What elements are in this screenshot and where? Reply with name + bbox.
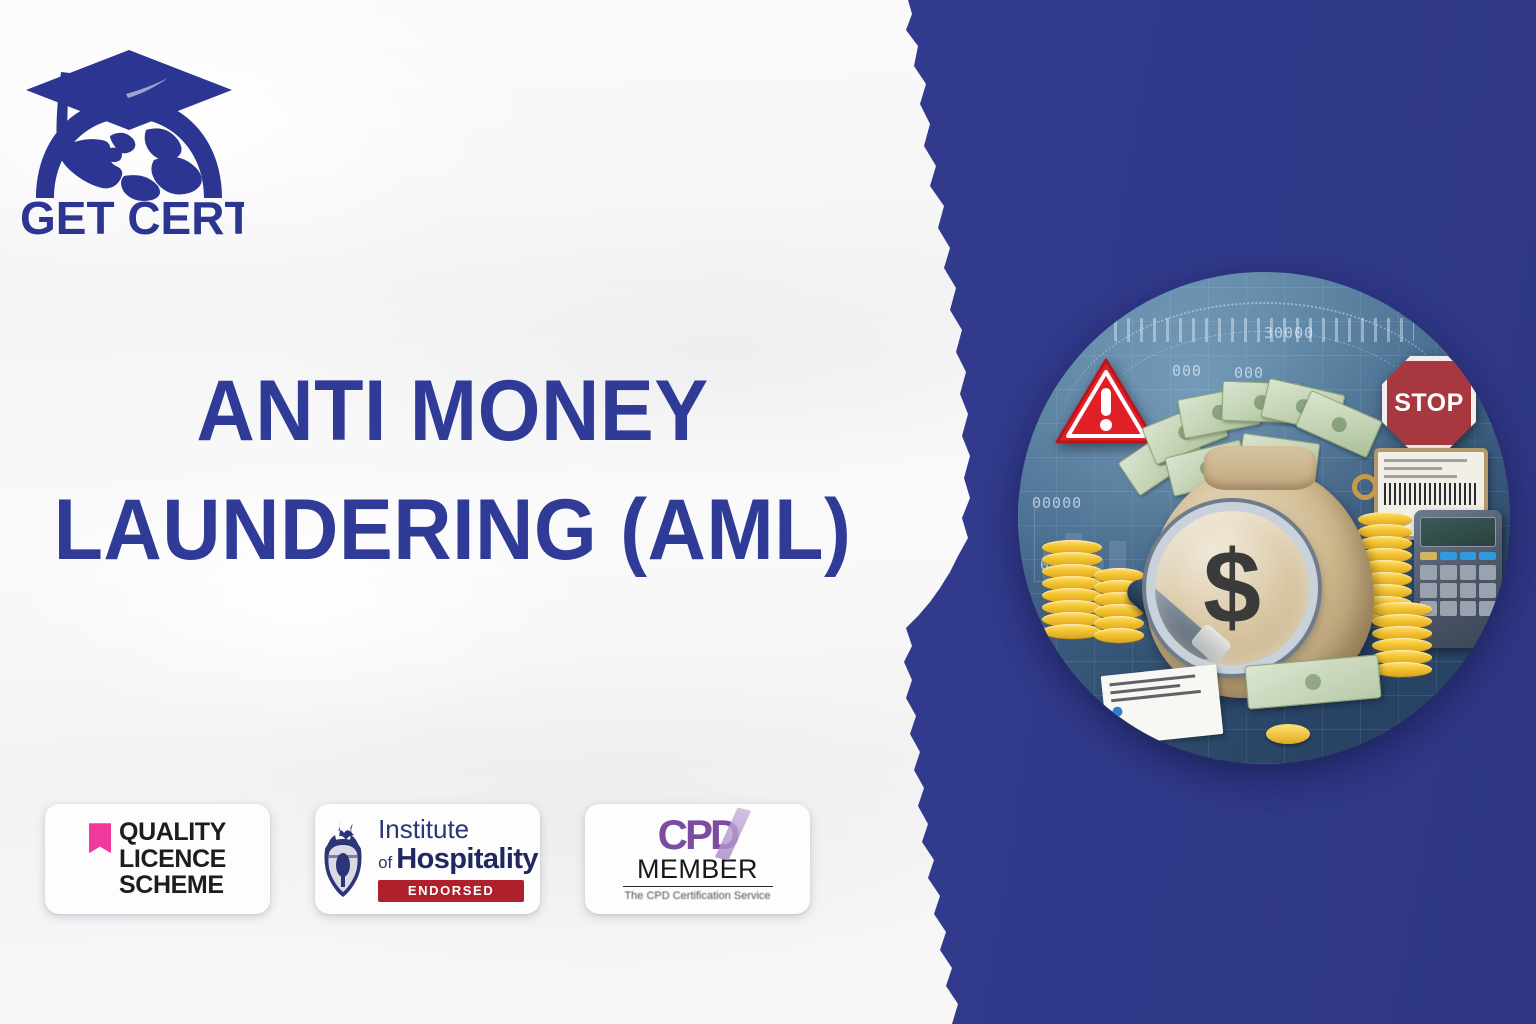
- calculator-screen: [1420, 517, 1496, 547]
- qls-line-1: QUALITY: [119, 819, 226, 846]
- endorsed-ribbon: ENDORSED: [378, 880, 524, 902]
- title-line-1: ANTI MONEY: [27, 352, 878, 471]
- badge-institute-of-hospitality[interactable]: Institute of Hospitality ENDORSED: [315, 804, 540, 914]
- loose-coin: [1266, 724, 1310, 744]
- stop-sign-label: STOP: [1394, 389, 1464, 418]
- cpd-divider: [623, 886, 773, 887]
- logo-wordmark: GET CERTIFY: [20, 192, 244, 241]
- financial-report-paper: [1101, 664, 1224, 746]
- magnifier-lens: $: [1146, 502, 1318, 674]
- dollar-symbol: $: [1203, 536, 1261, 640]
- disc-number-0: 30000: [1264, 324, 1314, 342]
- badge-quality-licence-scheme[interactable]: QUALITY LICENCE SCHEME: [45, 804, 270, 914]
- heraldic-crest-icon: [317, 819, 369, 899]
- qls-line-3: SCHEME: [119, 872, 226, 899]
- bookmark-icon: [89, 823, 111, 853]
- ioh-line-1: Institute: [378, 816, 538, 842]
- hero-illustration-disc: 30000 000 000 00000 000 STOP: [1018, 272, 1510, 764]
- report-stamp-dot: [1112, 706, 1123, 717]
- cpd-member-text: MEMBER: [637, 855, 758, 885]
- coin-stack-left-a: [1042, 540, 1102, 650]
- ioh-of: of: [378, 853, 392, 873]
- money-bag-tie: [1352, 474, 1378, 500]
- brand-logo[interactable]: GET CERTIFY: [14, 26, 244, 241]
- title-line-2: LAUNDERING (AML): [27, 471, 878, 590]
- coin-stack-right-c: [1372, 602, 1432, 686]
- stop-sign-icon: STOP: [1382, 356, 1476, 450]
- badge-cpd-member[interactable]: CPD MEMBER The CPD Certification Service: [585, 804, 810, 914]
- cpd-subtitle: The CPD Certification Service: [624, 890, 770, 904]
- accreditation-badges: QUALITY LICENCE SCHEME: [45, 804, 810, 914]
- poster-canvas: 30000 000 000 00000 000 STOP: [0, 0, 1536, 1024]
- money-bag-neck: [1204, 446, 1316, 490]
- page-title: ANTI MONEY LAUNDERING (AML): [27, 352, 878, 589]
- qls-line-2: LICENCE: [119, 846, 226, 873]
- ioh-line-2: Hospitality: [396, 845, 538, 874]
- calculator-function-keys: [1420, 552, 1496, 560]
